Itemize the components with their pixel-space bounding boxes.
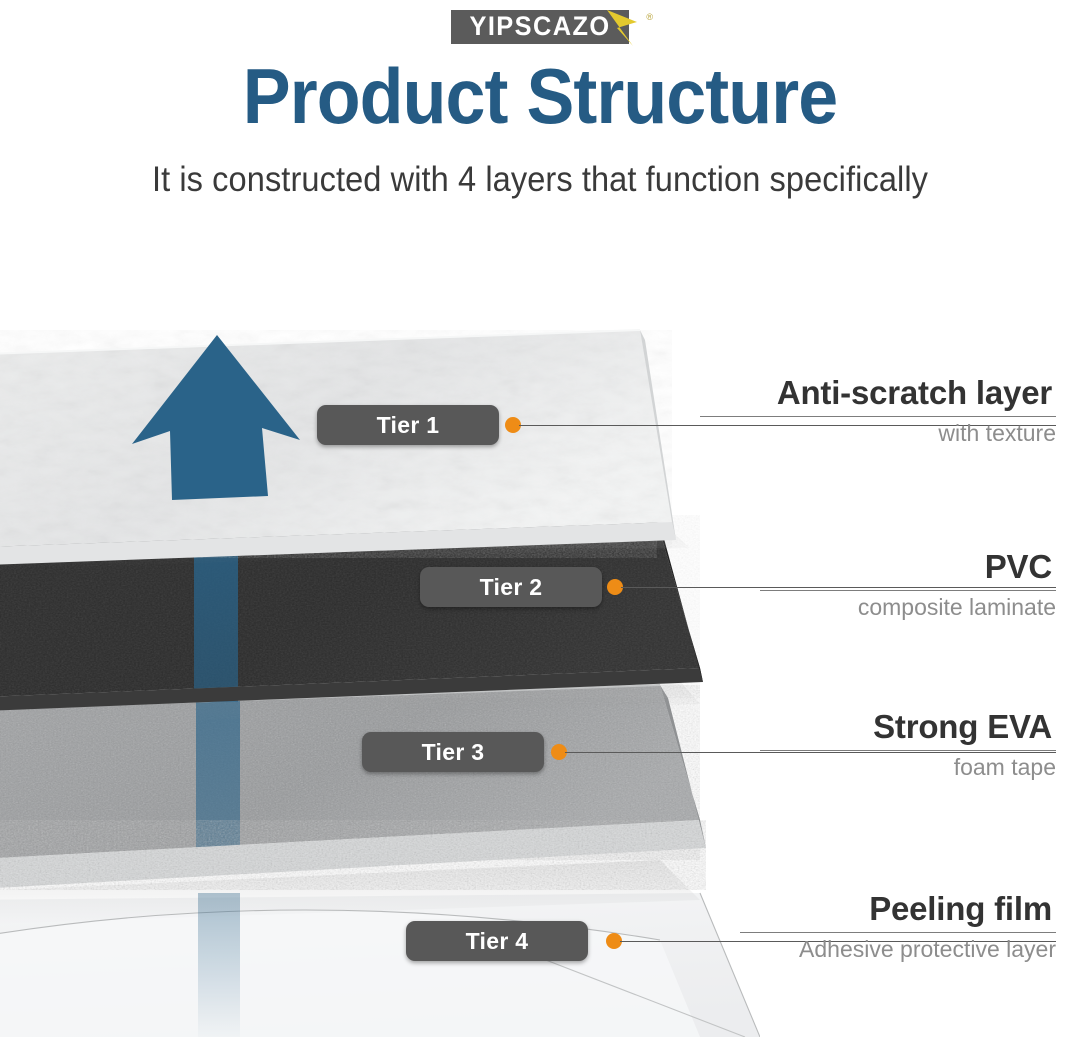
tier-badge-4[interactable]: Tier 4 [406,921,588,961]
tier-badge-3[interactable]: Tier 3 [362,732,544,772]
callout-sub-4: Adhesive protective layer [740,936,1056,963]
callout-rule-2 [760,590,1056,591]
logo-plate: YIPSCAZO ® [451,10,629,44]
layer-anti-scratch [0,330,690,570]
callout-heading-text-3: Strong EVA [873,708,1052,745]
callout-rule-3 [760,750,1056,751]
callout-heading-text-4: Peeling film [869,890,1052,927]
logo-wordmark: YIPSCAZO [469,13,610,40]
infographic-canvas: YIPSCAZO ® Product Structure It is const… [0,0,1080,1037]
callout-heading-text-2: PVC [985,548,1052,585]
page-title: Product Structure [43,56,1037,138]
callout-anti-scratch: Anti-scratch layer with texture [700,374,1056,447]
callout-sub-1: with texture [700,420,1056,447]
callout-heading-text-1: Anti-scratch layer [777,374,1052,411]
page-subtitle: It is constructed with 4 layers that fun… [38,160,1042,200]
callout-heading-2: PVC [985,548,1056,586]
tier-badge-2[interactable]: Tier 2 [420,567,602,607]
logo-swoosh-icon [603,6,645,50]
callout-pvc: PVC composite laminate [760,548,1056,621]
callout-sub-2: composite laminate [760,594,1056,621]
callout-peeling-film: Peeling film Adhesive protective layer [740,890,1056,963]
callout-sub-3: foam tape [760,754,1056,781]
tier-badge-1[interactable]: Tier 1 [317,405,499,445]
registered-mark: ® [646,12,653,22]
callout-heading-4: Peeling film [869,890,1056,928]
callout-rule-4 [740,932,1056,933]
callout-eva: Strong EVA foam tape [760,708,1056,781]
callout-heading-3: Strong EVA [873,708,1056,746]
brand-logo: YIPSCAZO ® [0,6,1080,48]
callout-rule-1 [700,416,1056,417]
callout-heading-1: Anti-scratch layer [777,374,1056,412]
